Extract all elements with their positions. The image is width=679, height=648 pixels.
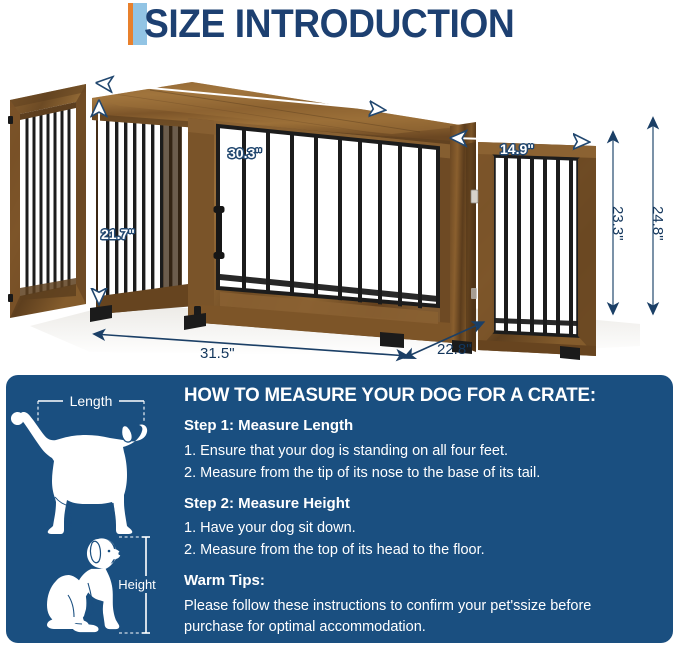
measure-instructions-text: HOW TO MEASURE YOUR DOG FOR A CRATE: Ste… bbox=[184, 385, 666, 640]
dimension-label-base-depth: 22.8" bbox=[437, 341, 472, 358]
step2-line1: 1. Have your dog sit down. bbox=[184, 519, 666, 538]
dog-crate-illustration bbox=[0, 56, 679, 368]
sitting-dog-illustration: Height bbox=[47, 537, 156, 633]
step2-line2: 2. Measure from the top of its head to t… bbox=[184, 541, 666, 560]
product-image-area: 30.3" 21.7" 14.9" 23.3" 24.8" 31.5" 22.8… bbox=[0, 56, 679, 368]
step1-line2: 2. Measure from the tip of its nose to t… bbox=[184, 464, 666, 483]
how-to-measure-panel: Length Height bbox=[6, 375, 673, 643]
dimension-label-base-width: 31.5" bbox=[200, 345, 235, 362]
warm-tips-line2: purchase for optimal accommodation. bbox=[184, 618, 666, 638]
dog-illustrations-group: Length Height bbox=[6, 375, 181, 643]
page-title-bar: SIZE INTRODUCTION bbox=[0, 0, 679, 56]
height-caption: Height bbox=[118, 577, 156, 592]
warm-tips-title: Warm Tips: bbox=[184, 572, 666, 589]
warm-tips-line1: Please follow these instructions to conf… bbox=[184, 597, 666, 617]
dimension-label-overall-height: 24.8" bbox=[649, 206, 666, 241]
dimension-label-side-height: 23.3" bbox=[609, 206, 626, 241]
right-corner-post bbox=[450, 122, 476, 352]
spacer bbox=[184, 563, 666, 572]
left-open-door-panel bbox=[8, 84, 86, 318]
standing-dog-illustration: Length bbox=[11, 393, 147, 534]
measure-panel-heading: HOW TO MEASURE YOUR DOG FOR A CRATE: bbox=[184, 385, 647, 406]
length-caption: Length bbox=[70, 393, 113, 409]
right-open-door-panel bbox=[471, 142, 596, 356]
page-title: SIZE INTRODUCTION bbox=[144, 0, 514, 48]
dimension-label-front-height: 21.7" bbox=[101, 226, 135, 242]
spacer bbox=[184, 486, 666, 495]
dimension-label-top-width: 30.3" bbox=[228, 145, 262, 161]
dimension-label-side-width: 14.9" bbox=[500, 141, 534, 157]
step1-title: Step 1: Measure Length bbox=[184, 417, 666, 434]
step2-title: Step 2: Measure Height bbox=[184, 495, 666, 512]
step1-line1: 1. Ensure that your dog is standing on a… bbox=[184, 442, 666, 461]
